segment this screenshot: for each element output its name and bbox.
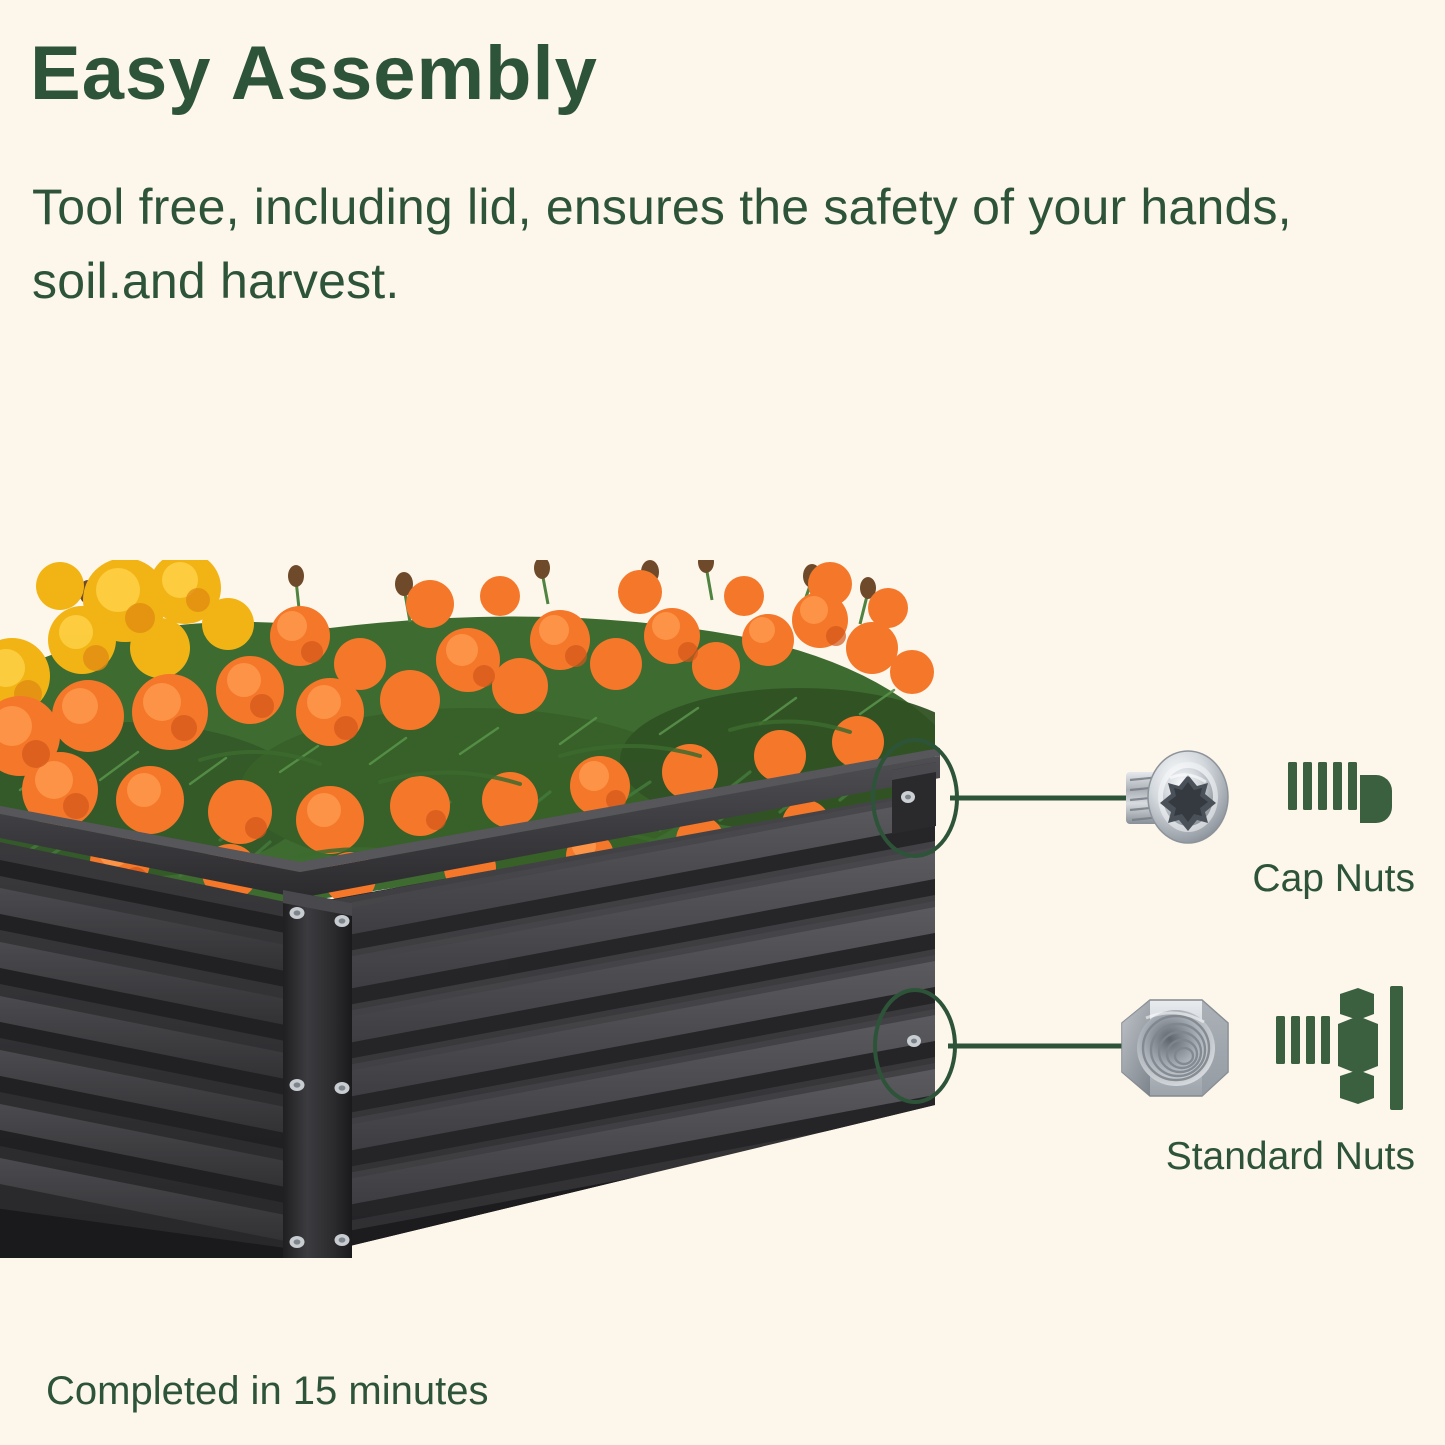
cap-nut-glyph-icon bbox=[1288, 762, 1392, 823]
page-title: Easy Assembly bbox=[30, 36, 598, 112]
hex-nut-hardware-photo bbox=[1122, 1000, 1228, 1096]
panel-screw-lower bbox=[907, 1035, 921, 1047]
callout-label-standard-nuts: Standard Nuts bbox=[1166, 1135, 1415, 1179]
rear-corner-bracket bbox=[892, 762, 936, 834]
footer-note: Completed in 15 minutes bbox=[46, 1369, 488, 1414]
callout-label-cap-nuts: Cap Nuts bbox=[1252, 857, 1415, 901]
infographic-canvas: Easy Assembly Tool free, including lid, … bbox=[0, 0, 1445, 1445]
page-subtitle: Tool free, including lid, ensures the sa… bbox=[32, 170, 1322, 318]
corner-post bbox=[283, 890, 352, 1258]
cap-nut-hardware-photo bbox=[1126, 751, 1228, 843]
standard-nut-glyph-icon bbox=[1276, 986, 1403, 1110]
